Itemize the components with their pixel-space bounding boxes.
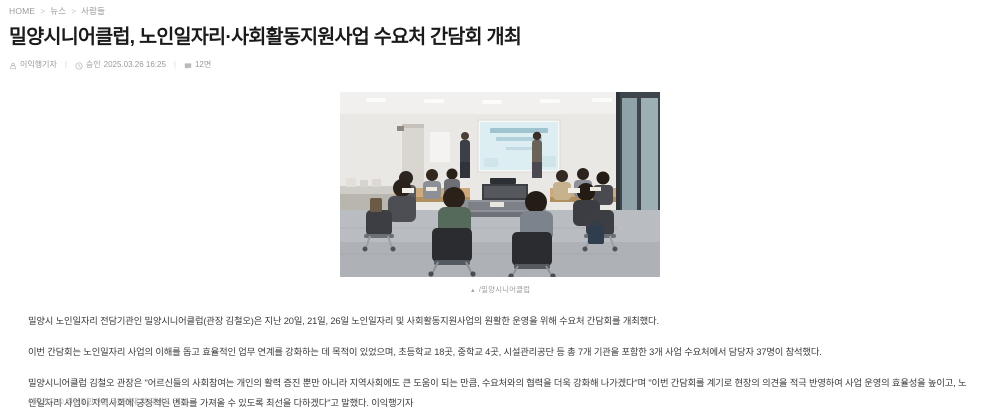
published-datetime: 2025.03.26 16:25 [104,59,166,71]
clock-icon [75,62,83,70]
breadcrumb: HOME>뉴스>사람들 [0,0,1000,18]
article-body: ▲/밀양시니어클럽 밀양시 노인일자리 전담기관인 밀양시니어클럽(관장 김철오… [0,78,1000,413]
breadcrumb-separator-icon: > [40,7,45,16]
published-label: 승인 [86,59,101,71]
article-figure: ▲/밀양시니어클럽 [340,92,660,295]
meta-divider: | [174,59,176,71]
reporter-name[interactable]: 이익행기자 [20,59,57,71]
article-paragraph: 밀양시니어클럽 김철오 관장은 "어르신들의 사회참여는 개인의 활력 증진 뿐… [28,373,972,413]
published-meta: 승인 2025.03.26 16:25 [75,59,166,71]
views-meta: 12면 [184,59,211,71]
comment-icon [184,62,192,70]
breadcrumb-item-people[interactable]: 사람들 [81,6,105,16]
figure-caption: ▲/밀양시니어클럽 [340,284,660,295]
person-icon [9,62,17,70]
article-paragraph: 이번 간담회는 노인일자리 사업의 이해를 돕고 효율적인 업무 연계를 강화하… [28,342,972,362]
page-title: 밀양시니어클럽, 노인일자리·사회활동지원사업 수요처 간담회 개최 [9,24,1000,50]
reporter-meta: 이익행기자 [9,59,57,71]
breadcrumb-separator-icon: > [71,7,76,16]
copyright-notice: 저작권자 © 경남도민신문 무단전재 및 재배포 금지 [28,396,187,407]
meta-divider: | [65,59,67,71]
article-page: HOME>뉴스>사람들 밀양시니어클럽, 노인일자리·사회활동지원사업 수요처 … [0,0,1000,415]
breadcrumb-item-home[interactable]: HOME [9,6,35,16]
article-photo [340,92,660,277]
article-paragraph: 밀양시 노인일자리 전담기관인 밀양시니어클럽(관장 김철오)은 지난 20일,… [28,311,972,331]
caption-triangle-icon: ▲ [470,288,476,294]
breadcrumb-item-news[interactable]: 뉴스 [50,6,66,16]
article-meta: 이익행기자 | 승인 2025.03.26 16:25 | 12면 [9,59,1000,71]
caption-text: /밀양시니어클럽 [479,285,530,294]
views-count: 12면 [195,59,211,71]
